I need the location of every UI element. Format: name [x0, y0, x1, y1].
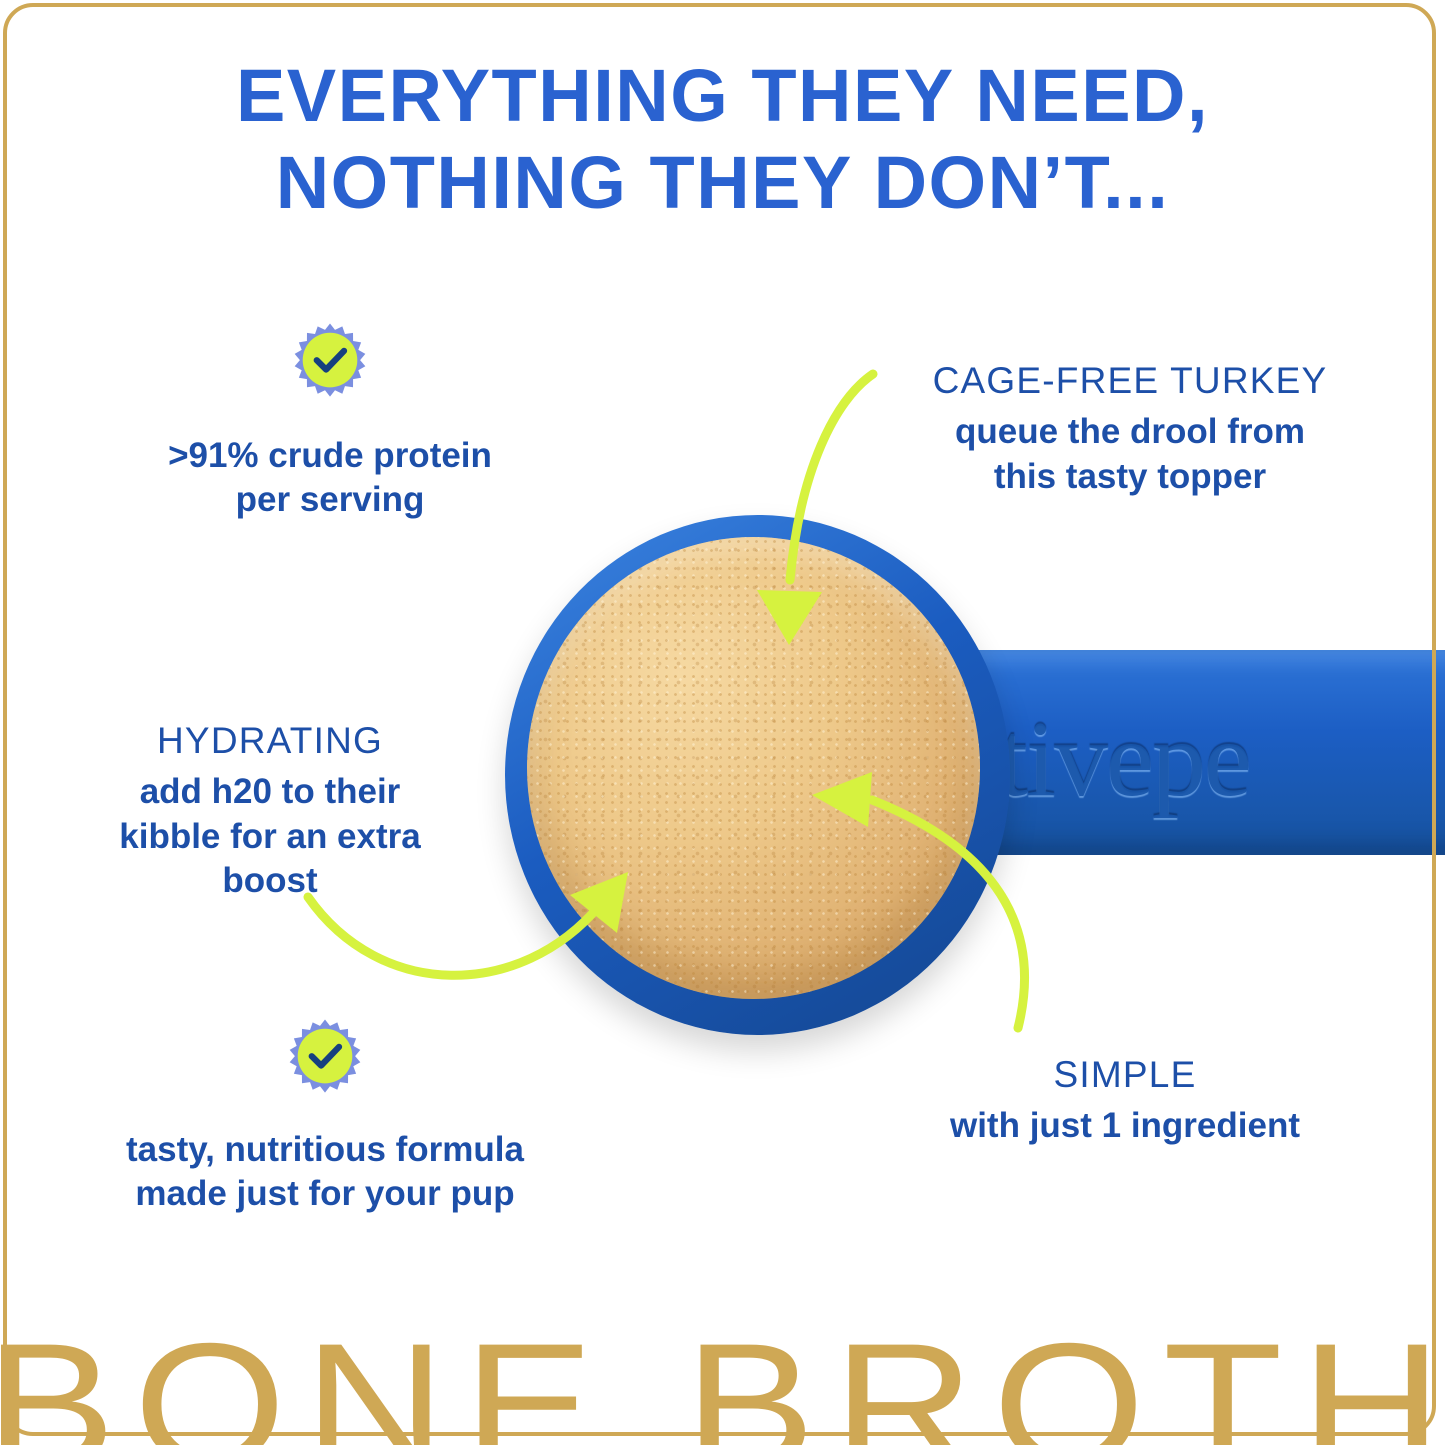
- callout-hydrating: HYDRATING add h20 to their kibble for an…: [60, 718, 480, 904]
- callout-body-line-3: boost: [60, 859, 480, 903]
- callout-title: CAGE-FREE TURKEY: [880, 358, 1380, 404]
- badge-caption-line-2: made just for your pup: [100, 1172, 550, 1216]
- badge-caption: tasty, nutritious formula made just for …: [100, 1128, 550, 1217]
- callout-body-line-2: kibble for an extra: [60, 815, 480, 859]
- callout-body: queue the drool from this tasty topper: [880, 410, 1380, 499]
- badge-caption-line-1: tasty, nutritious formula: [100, 1128, 550, 1172]
- scoop-bowl: [505, 515, 1010, 1035]
- callout-cage-free-turkey: CAGE-FREE TURKEY queue the drool from th…: [880, 358, 1380, 499]
- product-wordmark: BONE BROTH: [0, 1318, 1445, 1445]
- page-title: EVERYTHING THEY NEED, NOTHING THEY DON’T…: [0, 52, 1445, 227]
- callout-body-line-1: add h20 to their: [60, 770, 480, 814]
- callout-body: with just 1 ingredient: [905, 1104, 1345, 1148]
- badge-caption-line-1: >91% crude protein: [155, 434, 505, 478]
- callout-body: add h20 to their kibble for an extra boo…: [60, 770, 480, 903]
- feature-badge-protein: >91% crude protein per serving: [155, 322, 505, 523]
- badge-caption: >91% crude protein per serving: [155, 434, 505, 523]
- infographic-canvas: EVERYTHING THEY NEED, NOTHING THEY DON’T…: [0, 0, 1445, 1445]
- headline-line-1: EVERYTHING THEY NEED,: [0, 52, 1445, 139]
- badge-icon-wrap: [155, 322, 505, 400]
- bone-broth-powder: [527, 537, 980, 999]
- check-badge-icon: [286, 1018, 364, 1096]
- badge-icon-wrap: [100, 1018, 550, 1096]
- callout-body-line-2: this tasty topper: [880, 455, 1380, 499]
- callout-title: HYDRATING: [60, 718, 480, 764]
- headline-line-2: NOTHING THEY DON’T...: [0, 139, 1445, 226]
- feature-badge-formula: tasty, nutritious formula made just for …: [100, 1018, 550, 1217]
- product-photo: nativepe: [450, 495, 1445, 1055]
- check-badge-icon: [291, 322, 369, 400]
- callout-title: SIMPLE: [905, 1052, 1345, 1098]
- callout-body-line-1: with just 1 ingredient: [905, 1104, 1345, 1148]
- badge-caption-line-2: per serving: [155, 478, 505, 522]
- callout-simple: SIMPLE with just 1 ingredient: [905, 1052, 1345, 1149]
- callout-body-line-1: queue the drool from: [880, 410, 1380, 454]
